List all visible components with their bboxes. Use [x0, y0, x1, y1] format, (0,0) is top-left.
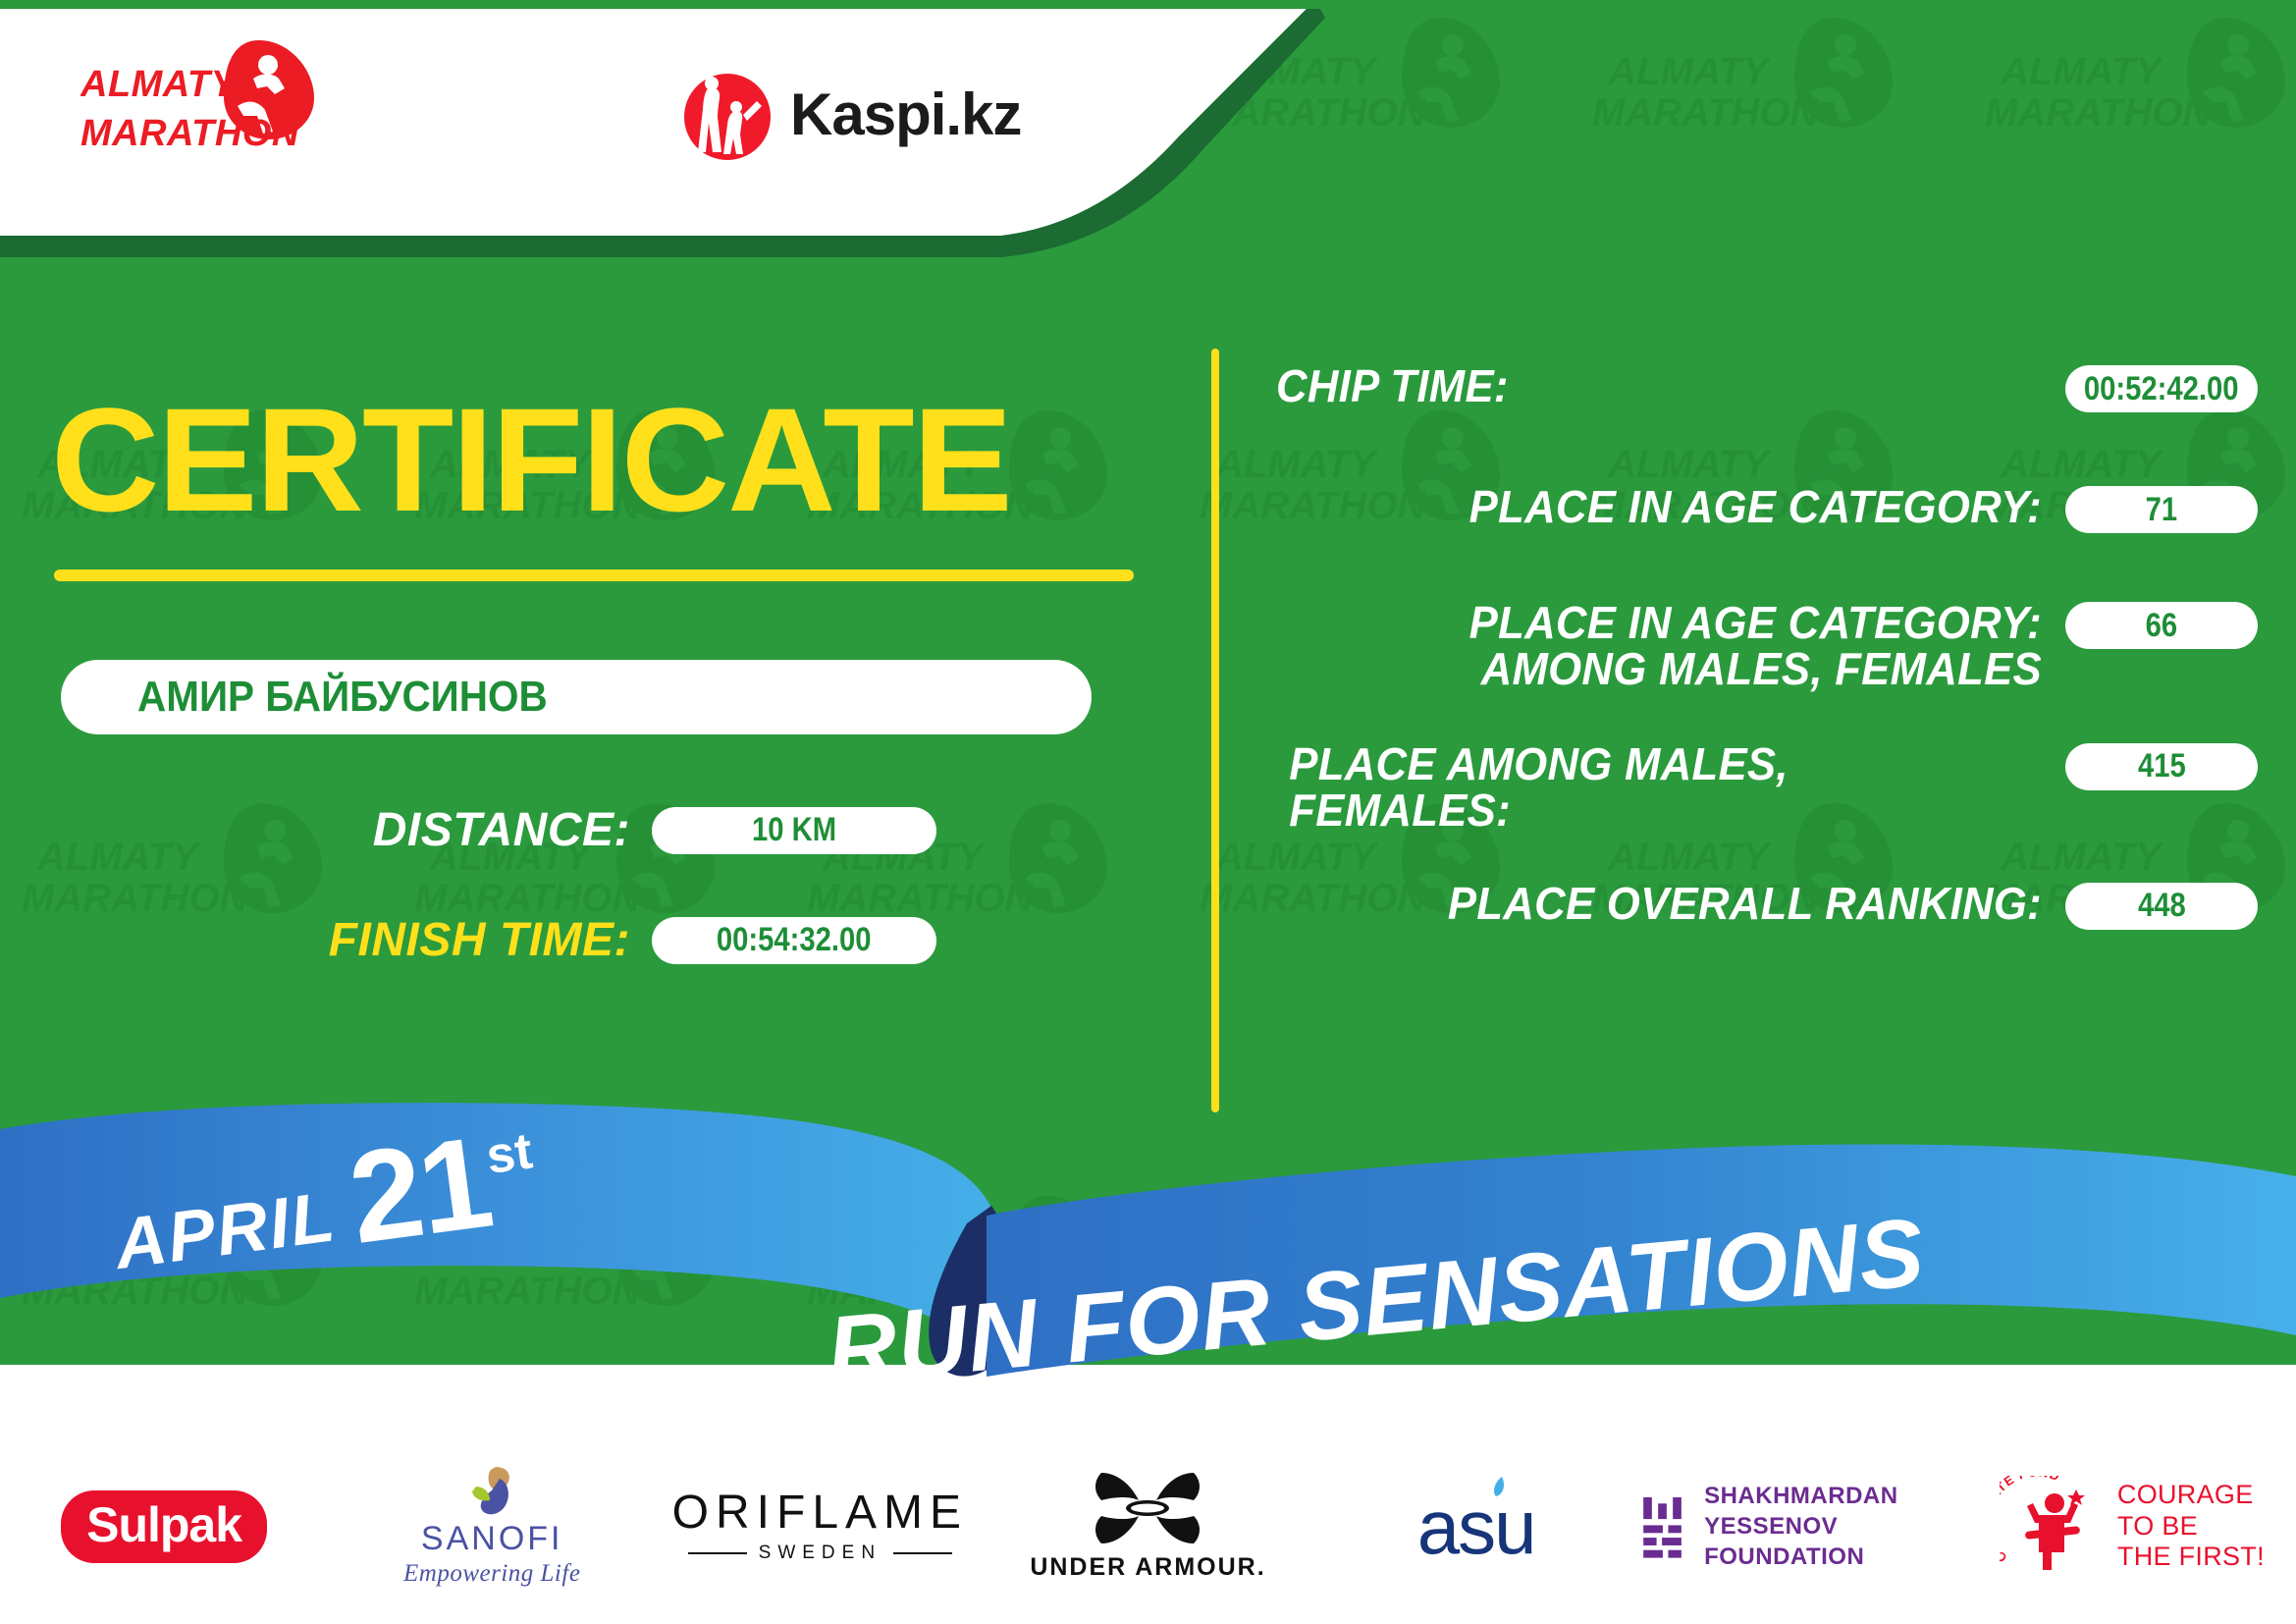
place-among-males-females-value-pill: 415: [2065, 743, 2258, 790]
almaty-logo-line2: MARATHON: [80, 113, 300, 154]
place-overall-label: PLACE OVERALL RANKING:: [1314, 881, 2042, 927]
stat-row-place-overall: PLACE OVERALL RANKING: 448: [1276, 881, 2258, 930]
stat-row-chip-time: CHIP TIME: 00:52:42.00: [1276, 363, 2258, 412]
yessenov-line2: FOUNDATION: [1704, 1542, 1968, 1572]
participant-name-field: АМИР БАЙБУСИНОВ: [61, 660, 1092, 734]
under-armour-icon: [1088, 1471, 1207, 1545]
courage-line2: TO BE: [2117, 1511, 2265, 1543]
kaspi-wordmark: Kaspi.kz: [790, 85, 1021, 144]
yessenov-mark-icon: [1640, 1486, 1686, 1568]
oriflame-rule-right: [893, 1552, 952, 1554]
place-overall-value-pill: 448: [2065, 883, 2258, 930]
place-age-category-value-pill: 71: [2065, 486, 2258, 533]
ribbon-day-number: 21: [344, 1124, 496, 1258]
place-among-males-females-label: PLACE AMONG MALES, FEMALES:: [1276, 741, 2003, 834]
kaspi-logo: Kaspi.kz: [682, 61, 1026, 169]
yessenov-line1: SHAKHMARDAN YESSENOV: [1704, 1481, 1968, 1542]
courage-fund-icon: CORPORATE FUND: [2000, 1476, 2104, 1578]
sponsor-yessenov-foundation: SHAKHMARDAN YESSENOV FOUNDATION: [1640, 1468, 1968, 1586]
sponsor-sulpak: Sulpak: [0, 1468, 328, 1586]
place-age-category-label: PLACE IN AGE CATEGORY:: [1314, 484, 2042, 530]
asu-droplet-icon: [1482, 1475, 1512, 1504]
chip-time-value: 00:52:42.00: [2084, 370, 2239, 408]
oriflame-wordmark: ORIFLAME: [672, 1489, 968, 1537]
distance-value: 10 KM: [752, 811, 836, 849]
certificate-title: CERTIFICATE: [51, 386, 1011, 533]
under-armour-wordmark: UNDER ARMOUR.: [1030, 1553, 1265, 1582]
place-overall-value: 448: [2138, 887, 2186, 925]
sanofi-tagline: Empowering Life: [403, 1560, 580, 1588]
sponsor-asu: asu: [1312, 1468, 1640, 1586]
place-age-category-among-value-pill: 66: [2065, 602, 2258, 649]
certificate-root: ALMATY MARATHON Kaspi.kz CERTIFICATE АМИ…: [0, 0, 2296, 1624]
oriflame-sub: SWEDEN: [759, 1543, 881, 1564]
sponsor-oriflame: ORIFLAME SWEDEN: [656, 1468, 984, 1586]
oriflame-rule-left: [688, 1552, 747, 1554]
distance-row: DISTANCE: 10 KM: [257, 803, 936, 857]
top-green-stripe: [0, 0, 2296, 9]
finish-time-value-pill: 00:54:32.00: [652, 917, 936, 964]
courage-line3: THE FIRST!: [2117, 1542, 2265, 1573]
finish-time-value: 00:54:32.00: [717, 921, 872, 959]
sulpak-wordmark: Sulpak: [61, 1490, 267, 1563]
almaty-logo-line1: ALMATY: [80, 64, 240, 105]
courage-line1: COURAGE: [2117, 1480, 2265, 1511]
sponsor-courage-fund: CORPORATE FUND COURAGE TO BE THE FIRST!: [1968, 1468, 2296, 1586]
sanofi-wordmark: SANOFI: [421, 1520, 563, 1558]
stats-column: CHIP TIME: 00:52:42.00 PLACE IN AGE CATE…: [1276, 363, 2258, 930]
chip-time-label: CHIP TIME:: [1276, 363, 2003, 409]
vertical-divider: [1211, 349, 1219, 1112]
sponsor-sanofi: SANOFI Empowering Life: [328, 1468, 656, 1586]
kaspi-people-icon: [682, 66, 773, 164]
sanofi-icon: [460, 1465, 523, 1518]
distance-label: DISTANCE:: [257, 803, 630, 857]
title-underline: [54, 569, 1134, 581]
place-age-category-value: 71: [2146, 491, 2178, 529]
place-age-category-among-label: PLACE IN AGE CATEGORY: AMONG MALES, FEMA…: [1314, 600, 2042, 692]
stat-row-place-age-category-among: PLACE IN AGE CATEGORY: AMONG MALES, FEMA…: [1276, 600, 2258, 692]
place-age-category-among-value: 66: [2146, 607, 2178, 645]
stat-row-place-among-males-females: PLACE AMONG MALES, FEMALES: 415: [1276, 741, 2258, 834]
participant-name-value: АМИР БАЙБУСИНОВ: [137, 673, 548, 722]
almaty-marathon-logo: ALMATY MARATHON: [80, 37, 395, 165]
sponsor-under-armour: UNDER ARMOUR.: [984, 1468, 1311, 1586]
asu-wordmark: asu: [1417, 1489, 1535, 1565]
finish-time-label: FINISH TIME:: [169, 913, 630, 967]
distance-value-pill: 10 KM: [652, 807, 936, 854]
ribbon-day-suffix: st: [483, 1121, 536, 1186]
place-among-males-females-value: 415: [2138, 747, 2186, 785]
finish-time-row: FINISH TIME: 00:54:32.00: [169, 913, 936, 967]
chip-time-value-pill: 00:52:42.00: [2065, 365, 2258, 412]
stat-row-place-age-category: PLACE IN AGE CATEGORY: 71: [1276, 484, 2258, 533]
sponsor-strip: Sulpak SANOFI Empowering Life ORIFLAME S…: [0, 1429, 2296, 1624]
